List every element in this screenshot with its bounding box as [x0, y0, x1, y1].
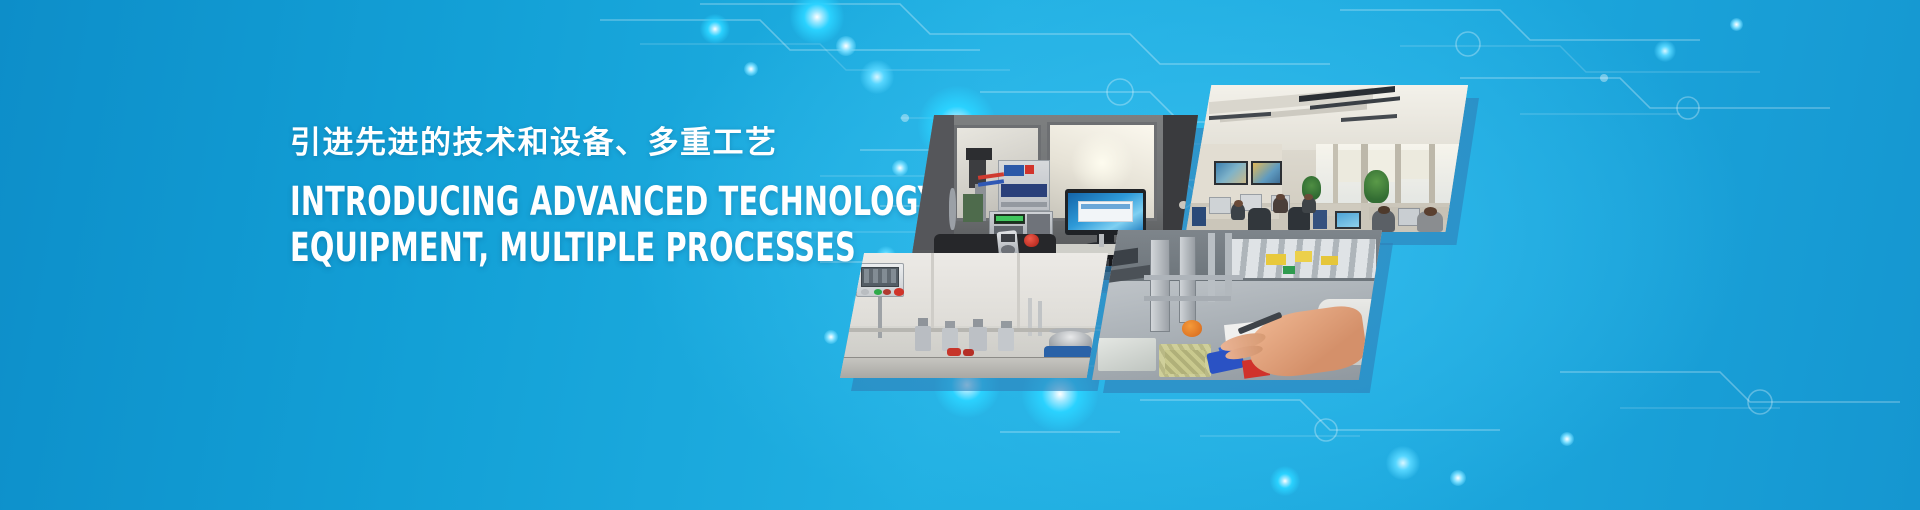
bokeh-dot — [1654, 40, 1676, 62]
production-line-photo — [840, 253, 1108, 378]
photo-image — [1092, 230, 1382, 380]
bokeh-dot — [1270, 466, 1300, 496]
photo-image — [1186, 85, 1468, 232]
promo-banner: 引进先进的技术和设备、多重工艺 INTRODUCING ADVANCED TEC… — [0, 0, 1920, 510]
photo-frame — [840, 253, 1108, 378]
photo-frame — [1186, 85, 1468, 232]
open-office-photo — [1186, 85, 1468, 232]
bokeh-dot — [836, 36, 856, 56]
bokeh-dot — [700, 14, 730, 44]
photo-frame — [1092, 230, 1382, 380]
photo-image — [840, 253, 1108, 378]
bokeh-dot — [1560, 432, 1574, 446]
bokeh-dot — [1450, 470, 1466, 486]
bokeh-dot — [1730, 18, 1743, 31]
photo-collage — [830, 60, 1470, 460]
headline-english: INTRODUCING ADVANCED TECHNOLOGY AND EQUI… — [290, 179, 818, 271]
bokeh-dot — [790, 0, 844, 44]
bokeh-dot — [744, 62, 758, 76]
assembly-worker-photo — [1092, 230, 1382, 380]
headline-english-line-1: INTRODUCING ADVANCED TECHNOLOGY AND — [290, 179, 818, 225]
headline-english-line-2: EQUIPMENT, MULTIPLE PROCESSES — [290, 225, 818, 271]
